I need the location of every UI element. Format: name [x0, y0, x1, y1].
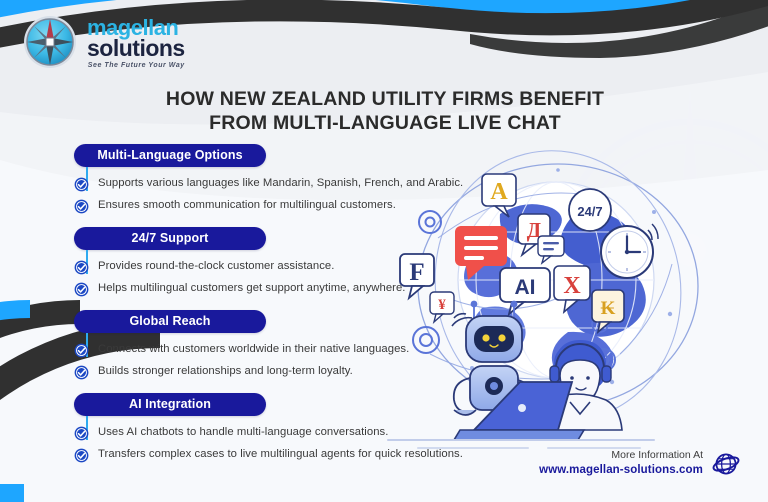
check-circle-icon [74, 177, 89, 192]
bullet-text: Helps multilingual customers get support… [98, 281, 405, 296]
logo-tagline: See The Future Your Way [87, 62, 185, 69]
page-title-line-2: FROM MULTI-LANGUAGE LIVE CHAT [209, 112, 561, 134]
section-badge-ai-integration[interactable]: AI Integration [74, 393, 266, 416]
infographic-page: A Д [0, 0, 768, 502]
list-item: Uses AI chatbots to handle multi-languag… [74, 425, 494, 441]
bullet-text: Builds stronger relationships and long-t… [98, 364, 353, 379]
footer-website-url[interactable]: www.magellan-solutions.com [539, 463, 703, 478]
check-circle-icon [74, 426, 89, 441]
bullet-text: Provides round-the-clock customer assist… [98, 259, 334, 274]
globe-icon [712, 450, 740, 478]
svg-text:X: X [563, 273, 581, 299]
badge-24-7: 24/7 [569, 189, 611, 231]
list-item: Builds stronger relationships and long-t… [74, 364, 494, 380]
page-title-line-1: HOW NEW ZEALAND UTILITY FIRMS BENEFIT [166, 88, 604, 110]
bullet-text: Transfers complex cases to live multilin… [98, 447, 463, 462]
section-badge-24-7-support[interactable]: 24/7 Support [74, 227, 266, 250]
list-item: Connects with customers worldwide in the… [74, 342, 494, 358]
benefit-section: 24/7 Support Provides round-the-clock cu… [74, 227, 494, 297]
bullet-list: Supports various languages like Mandarin… [74, 176, 494, 214]
bullet-list: Provides round-the-clock customer assist… [74, 259, 494, 297]
list-item: Supports various languages like Mandarin… [74, 176, 494, 192]
bullet-text: Connects with customers worldwide in the… [98, 342, 409, 357]
benefit-section: Multi-Language Options Supports various … [74, 144, 494, 214]
list-item: Ensures smooth communication for multili… [74, 198, 494, 214]
bullet-text: Supports various languages like Mandarin… [98, 176, 463, 191]
check-circle-icon [74, 199, 89, 214]
page-title: HOW NEW ZEALAND UTILITY FIRMS BENEFIT FR… [140, 88, 630, 136]
list-item: Provides round-the-clock customer assist… [74, 259, 494, 275]
check-circle-icon [74, 260, 89, 275]
footer: More Information At www.magellan-solutio… [539, 449, 740, 478]
section-badge-multi-language-options[interactable]: Multi-Language Options [74, 144, 266, 167]
benefit-sections: Multi-Language Options Supports various … [74, 144, 494, 463]
bullet-text: Ensures smooth communication for multili… [98, 198, 396, 213]
check-circle-icon [74, 282, 89, 297]
benefit-section: AI Integration Uses AI chatbots to handl… [74, 393, 494, 463]
footer-text-block: More Information At www.magellan-solutio… [539, 449, 703, 478]
footer-more-label: More Information At [539, 449, 703, 463]
corner-cyan-block [0, 484, 24, 502]
svg-text:₭: ₭ [601, 298, 616, 319]
bullet-list: Uses AI chatbots to handle multi-languag… [74, 425, 494, 463]
bullet-list: Connects with customers worldwide in the… [74, 342, 494, 380]
list-item: Helps multilingual customers get support… [74, 281, 494, 297]
brand-logo[interactable]: magellan solutions See The Future Your W… [22, 14, 185, 70]
check-circle-icon [74, 343, 89, 358]
section-badge-global-reach[interactable]: Global Reach [74, 310, 266, 333]
logo-line-2: solutions [87, 37, 185, 60]
compass-rose-icon [22, 14, 78, 70]
check-circle-icon [74, 365, 89, 380]
bullet-text: Uses AI chatbots to handle multi-languag… [98, 425, 388, 440]
check-circle-icon [74, 448, 89, 463]
svg-text:24/7: 24/7 [577, 204, 602, 219]
list-item: Transfers complex cases to live multilin… [74, 447, 494, 463]
svg-text:AI: AI [515, 276, 536, 299]
benefit-section: Global Reach Connects with customers wor… [74, 310, 494, 380]
